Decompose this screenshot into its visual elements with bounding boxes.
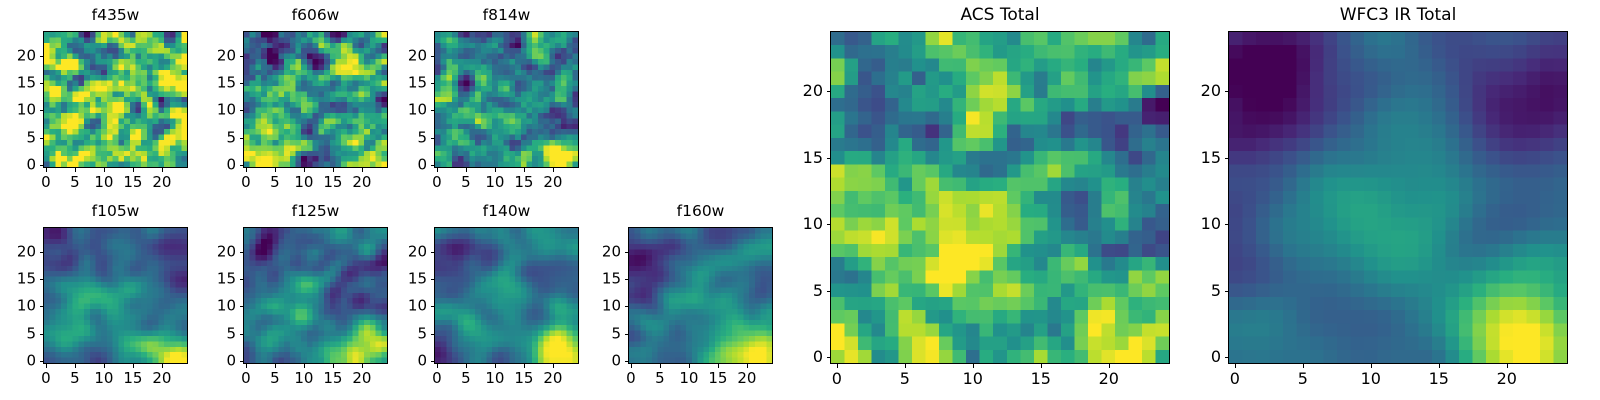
ytick-f105w-20 xyxy=(40,252,44,253)
heatmap-acs-total xyxy=(831,32,1169,363)
ytick-f814w-5 xyxy=(431,138,435,139)
xtick-f606w-5 xyxy=(275,168,276,172)
ytick-label-acs-total-5: 5 xyxy=(790,283,823,299)
ytick-label-f140w-0: 0 xyxy=(394,354,427,369)
xtick-label-f125w-20: 20 xyxy=(352,371,371,386)
xtick-label-f606w-0: 0 xyxy=(241,175,251,190)
xtick-f140w-5 xyxy=(466,364,467,368)
xtick-wfc3-ir-total-5 xyxy=(1303,364,1304,368)
ytick-f125w-0 xyxy=(240,361,244,362)
panel-title-f606w: f606w xyxy=(243,8,388,24)
xtick-label-f814w-0: 0 xyxy=(432,175,442,190)
ytick-f606w-0 xyxy=(240,165,244,166)
ytick-label-f814w-0: 0 xyxy=(394,158,427,173)
ytick-label-f160w-0: 0 xyxy=(588,354,621,369)
ytick-f140w-5 xyxy=(431,334,435,335)
xtick-f140w-10 xyxy=(495,364,496,368)
xtick-label-f105w-20: 20 xyxy=(152,371,171,386)
xtick-label-f606w-15: 15 xyxy=(323,175,342,190)
ytick-f140w-15 xyxy=(431,279,435,280)
xtick-label-f140w-20: 20 xyxy=(543,371,562,386)
ytick-label-f435w-10: 10 xyxy=(3,103,36,118)
ytick-label-f125w-10: 10 xyxy=(203,299,236,314)
ytick-f814w-10 xyxy=(431,110,435,111)
ytick-f606w-20 xyxy=(240,56,244,57)
xtick-f125w-0 xyxy=(246,364,247,368)
xtick-label-f105w-5: 5 xyxy=(70,371,80,386)
ytick-f160w-15 xyxy=(625,279,629,280)
xtick-label-f140w-15: 15 xyxy=(514,371,533,386)
ytick-label-wfc3-ir-total-0: 0 xyxy=(1188,349,1221,365)
ytick-label-f125w-20: 20 xyxy=(203,244,236,259)
ytick-label-f606w-10: 10 xyxy=(203,103,236,118)
xtick-label-f125w-15: 15 xyxy=(323,371,342,386)
panel-f105w: f105w0510152005101520 xyxy=(3,200,188,397)
xtick-f606w-15 xyxy=(333,168,334,172)
panel-title-f435w: f435w xyxy=(43,8,188,24)
figure-canvas: f435w0510152005101520f606w05101520051015… xyxy=(0,0,1600,400)
xtick-f125w-20 xyxy=(362,364,363,368)
ytick-label-f125w-5: 5 xyxy=(203,326,236,341)
ytick-label-acs-total-10: 10 xyxy=(790,216,823,232)
xtick-label-wfc3-ir-total-15: 15 xyxy=(1429,371,1449,387)
ytick-label-f160w-20: 20 xyxy=(588,244,621,259)
ytick-label-f606w-15: 15 xyxy=(203,76,236,91)
xtick-label-wfc3-ir-total-10: 10 xyxy=(1361,371,1381,387)
panel-f814w: f814w0510152005101520 xyxy=(394,4,579,201)
ytick-wfc3-ir-total-0 xyxy=(1225,357,1229,358)
heatmap-f125w xyxy=(244,228,387,363)
xtick-f814w-20 xyxy=(553,168,554,172)
xtick-acs-total-5 xyxy=(905,364,906,368)
ytick-wfc3-ir-total-15 xyxy=(1225,158,1229,159)
ytick-f125w-20 xyxy=(240,252,244,253)
xtick-label-f814w-15: 15 xyxy=(514,175,533,190)
panel-f140w: f140w0510152005101520 xyxy=(394,200,579,397)
xtick-label-f435w-15: 15 xyxy=(123,175,142,190)
xtick-f606w-10 xyxy=(304,168,305,172)
ytick-label-f814w-15: 15 xyxy=(394,76,427,91)
xtick-label-f105w-0: 0 xyxy=(41,371,51,386)
xtick-wfc3-ir-total-0 xyxy=(1235,364,1236,368)
xtick-f606w-20 xyxy=(362,168,363,172)
ytick-label-f606w-0: 0 xyxy=(203,158,236,173)
ytick-f435w-10 xyxy=(40,110,44,111)
panel-f606w: f606w0510152005101520 xyxy=(203,4,388,201)
image-axes-f140w xyxy=(434,227,579,364)
heatmap-f160w xyxy=(629,228,772,363)
xtick-f125w-10 xyxy=(304,364,305,368)
image-axes-f606w xyxy=(243,31,388,168)
xtick-f125w-15 xyxy=(333,364,334,368)
xtick-label-f814w-5: 5 xyxy=(461,175,471,190)
xtick-label-f435w-20: 20 xyxy=(152,175,171,190)
ytick-wfc3-ir-total-5 xyxy=(1225,291,1229,292)
ytick-f814w-20 xyxy=(431,56,435,57)
xtick-acs-total-10 xyxy=(973,364,974,368)
xtick-f814w-10 xyxy=(495,168,496,172)
ytick-label-f125w-15: 15 xyxy=(203,272,236,287)
ytick-label-wfc3-ir-total-5: 5 xyxy=(1188,283,1221,299)
image-axes-acs-total xyxy=(830,31,1170,364)
xtick-label-f435w-10: 10 xyxy=(94,175,113,190)
ytick-acs-total-10 xyxy=(827,224,831,225)
ytick-f435w-15 xyxy=(40,83,44,84)
xtick-label-f140w-10: 10 xyxy=(485,371,504,386)
panel-title-wfc3-ir-total: WFC3 IR Total xyxy=(1228,7,1568,24)
ytick-f435w-20 xyxy=(40,56,44,57)
xtick-f105w-5 xyxy=(75,364,76,368)
panel-title-f814w: f814w xyxy=(434,8,579,24)
xtick-label-acs-total-5: 5 xyxy=(900,371,910,387)
ytick-f125w-5 xyxy=(240,334,244,335)
xtick-label-f105w-10: 10 xyxy=(94,371,113,386)
xtick-label-f814w-20: 20 xyxy=(543,175,562,190)
ytick-label-acs-total-0: 0 xyxy=(790,349,823,365)
ytick-label-f814w-5: 5 xyxy=(394,130,427,145)
ytick-label-f140w-5: 5 xyxy=(394,326,427,341)
ytick-acs-total-15 xyxy=(827,158,831,159)
xtick-f435w-10 xyxy=(104,168,105,172)
xtick-wfc3-ir-total-10 xyxy=(1371,364,1372,368)
xtick-label-acs-total-20: 20 xyxy=(1099,371,1119,387)
ytick-f606w-10 xyxy=(240,110,244,111)
ytick-label-f606w-5: 5 xyxy=(203,130,236,145)
ytick-f814w-15 xyxy=(431,83,435,84)
xtick-f160w-5 xyxy=(660,364,661,368)
xtick-f814w-5 xyxy=(466,168,467,172)
ytick-label-f105w-20: 20 xyxy=(3,244,36,259)
heatmap-f814w xyxy=(435,32,578,167)
xtick-f140w-0 xyxy=(437,364,438,368)
xtick-wfc3-ir-total-20 xyxy=(1507,364,1508,368)
xtick-f435w-0 xyxy=(46,168,47,172)
ytick-f435w-5 xyxy=(40,138,44,139)
xtick-f140w-15 xyxy=(524,364,525,368)
xtick-label-f140w-5: 5 xyxy=(461,371,471,386)
ytick-label-wfc3-ir-total-10: 10 xyxy=(1188,216,1221,232)
xtick-acs-total-20 xyxy=(1109,364,1110,368)
ytick-f140w-20 xyxy=(431,252,435,253)
ytick-label-f140w-15: 15 xyxy=(394,272,427,287)
ytick-label-wfc3-ir-total-15: 15 xyxy=(1188,150,1221,166)
ytick-label-f160w-5: 5 xyxy=(588,326,621,341)
image-axes-f125w xyxy=(243,227,388,364)
ytick-f160w-5 xyxy=(625,334,629,335)
ytick-label-f606w-20: 20 xyxy=(203,48,236,63)
xtick-label-acs-total-15: 15 xyxy=(1031,371,1051,387)
xtick-f435w-5 xyxy=(75,168,76,172)
xtick-f105w-20 xyxy=(162,364,163,368)
image-axes-f435w xyxy=(43,31,188,168)
ytick-f105w-0 xyxy=(40,361,44,362)
xtick-label-f125w-5: 5 xyxy=(270,371,280,386)
ytick-acs-total-20 xyxy=(827,91,831,92)
xtick-label-f160w-10: 10 xyxy=(679,371,698,386)
ytick-label-f160w-15: 15 xyxy=(588,272,621,287)
xtick-label-f606w-20: 20 xyxy=(352,175,371,190)
xtick-label-acs-total-10: 10 xyxy=(963,371,983,387)
ytick-label-f435w-5: 5 xyxy=(3,130,36,145)
xtick-label-f125w-0: 0 xyxy=(241,371,251,386)
xtick-label-f606w-10: 10 xyxy=(294,175,313,190)
ytick-f140w-0 xyxy=(431,361,435,362)
ytick-f125w-15 xyxy=(240,279,244,280)
ytick-label-f814w-10: 10 xyxy=(394,103,427,118)
ytick-f125w-10 xyxy=(240,306,244,307)
xtick-acs-total-15 xyxy=(1041,364,1042,368)
xtick-acs-total-0 xyxy=(837,364,838,368)
panel-title-acs-total: ACS Total xyxy=(830,7,1170,24)
xtick-f160w-10 xyxy=(689,364,690,368)
image-axes-f105w xyxy=(43,227,188,364)
ytick-label-f435w-0: 0 xyxy=(3,158,36,173)
xtick-f606w-0 xyxy=(246,168,247,172)
heatmap-wfc3-ir-total xyxy=(1229,32,1567,363)
ytick-f160w-10 xyxy=(625,306,629,307)
xtick-label-acs-total-0: 0 xyxy=(832,371,842,387)
xtick-f105w-0 xyxy=(46,364,47,368)
xtick-label-f435w-5: 5 xyxy=(70,175,80,190)
xtick-label-f140w-0: 0 xyxy=(432,371,442,386)
ytick-f435w-0 xyxy=(40,165,44,166)
heatmap-f606w xyxy=(244,32,387,167)
xtick-label-wfc3-ir-total-20: 20 xyxy=(1497,371,1517,387)
xtick-f435w-20 xyxy=(162,168,163,172)
ytick-acs-total-0 xyxy=(827,357,831,358)
ytick-label-wfc3-ir-total-20: 20 xyxy=(1188,83,1221,99)
xtick-f140w-20 xyxy=(553,364,554,368)
ytick-wfc3-ir-total-20 xyxy=(1225,91,1229,92)
ytick-label-f814w-20: 20 xyxy=(394,48,427,63)
ytick-f160w-0 xyxy=(625,361,629,362)
xtick-label-f160w-0: 0 xyxy=(626,371,636,386)
ytick-label-f435w-20: 20 xyxy=(3,48,36,63)
xtick-wfc3-ir-total-15 xyxy=(1439,364,1440,368)
ytick-f140w-10 xyxy=(431,306,435,307)
xtick-f105w-15 xyxy=(133,364,134,368)
ytick-f105w-15 xyxy=(40,279,44,280)
ytick-label-f140w-10: 10 xyxy=(394,299,427,314)
ytick-f105w-10 xyxy=(40,306,44,307)
heatmap-f435w xyxy=(44,32,187,167)
ytick-label-f105w-10: 10 xyxy=(3,299,36,314)
xtick-label-f160w-15: 15 xyxy=(708,371,727,386)
heatmap-f105w xyxy=(44,228,187,363)
ytick-f606w-15 xyxy=(240,83,244,84)
panel-f435w: f435w0510152005101520 xyxy=(3,4,188,201)
ytick-label-f105w-0: 0 xyxy=(3,354,36,369)
xtick-f105w-10 xyxy=(104,364,105,368)
xtick-label-f125w-10: 10 xyxy=(294,371,313,386)
ytick-f105w-5 xyxy=(40,334,44,335)
xtick-label-f435w-0: 0 xyxy=(41,175,51,190)
ytick-f160w-20 xyxy=(625,252,629,253)
xtick-label-f160w-5: 5 xyxy=(655,371,665,386)
heatmap-f140w xyxy=(435,228,578,363)
ytick-label-f160w-10: 10 xyxy=(588,299,621,314)
xtick-f814w-15 xyxy=(524,168,525,172)
ytick-label-acs-total-15: 15 xyxy=(790,150,823,166)
panel-f125w: f125w0510152005101520 xyxy=(203,200,388,397)
xtick-label-wfc3-ir-total-5: 5 xyxy=(1298,371,1308,387)
ytick-label-f140w-20: 20 xyxy=(394,244,427,259)
panel-title-f140w: f140w xyxy=(434,204,579,220)
ytick-f814w-0 xyxy=(431,165,435,166)
image-axes-f814w xyxy=(434,31,579,168)
panel-f160w: f160w0510152005101520 xyxy=(588,200,773,397)
panel-title-f105w: f105w xyxy=(43,204,188,220)
xtick-label-f105w-15: 15 xyxy=(123,371,142,386)
xtick-label-f814w-10: 10 xyxy=(485,175,504,190)
panel-title-f160w: f160w xyxy=(628,204,773,220)
xtick-f125w-5 xyxy=(275,364,276,368)
xtick-f160w-0 xyxy=(631,364,632,368)
ytick-f606w-5 xyxy=(240,138,244,139)
panel-wfc3-ir-total: WFC3 IR Total0510152005101520 xyxy=(1188,4,1568,397)
ytick-wfc3-ir-total-10 xyxy=(1225,224,1229,225)
panel-acs-total: ACS Total0510152005101520 xyxy=(790,4,1170,397)
xtick-f160w-20 xyxy=(747,364,748,368)
ytick-label-f105w-15: 15 xyxy=(3,272,36,287)
ytick-label-acs-total-20: 20 xyxy=(790,83,823,99)
panel-title-f125w: f125w xyxy=(243,204,388,220)
xtick-label-f160w-20: 20 xyxy=(737,371,756,386)
ytick-acs-total-5 xyxy=(827,291,831,292)
xtick-f160w-15 xyxy=(718,364,719,368)
ytick-label-f125w-0: 0 xyxy=(203,354,236,369)
xtick-label-wfc3-ir-total-0: 0 xyxy=(1230,371,1240,387)
ytick-label-f105w-5: 5 xyxy=(3,326,36,341)
image-axes-f160w xyxy=(628,227,773,364)
xtick-f435w-15 xyxy=(133,168,134,172)
xtick-label-f606w-5: 5 xyxy=(270,175,280,190)
ytick-label-f435w-15: 15 xyxy=(3,76,36,91)
image-axes-wfc3-ir-total xyxy=(1228,31,1568,364)
xtick-f814w-0 xyxy=(437,168,438,172)
